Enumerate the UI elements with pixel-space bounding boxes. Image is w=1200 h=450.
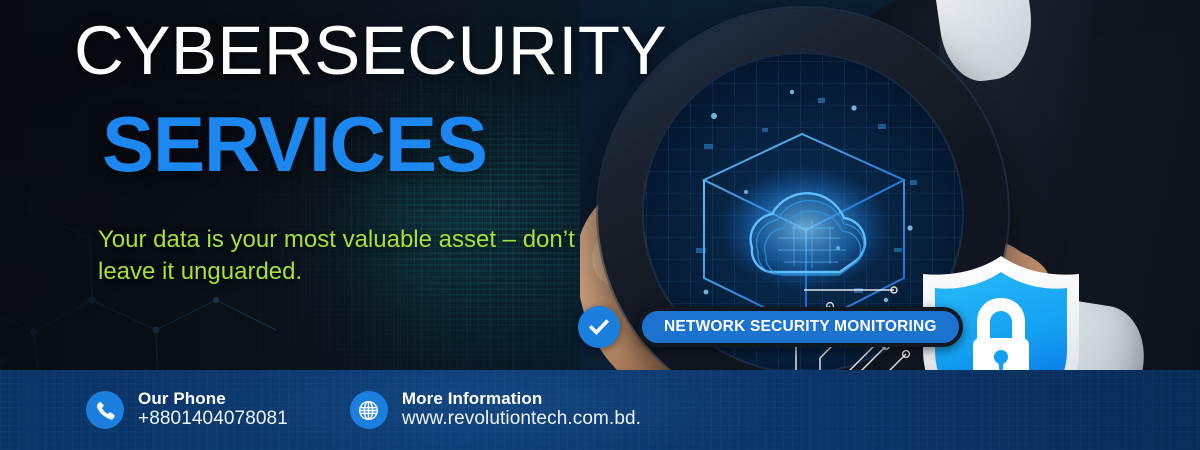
- contact-phone[interactable]: Our Phone +8801404078081: [86, 389, 288, 431]
- contact-bar: Our Phone +8801404078081 More Inform: [0, 370, 1200, 450]
- contact-phone-text: Our Phone +8801404078081: [138, 389, 288, 431]
- contact-website-text: More Information www.revolutiontech.com.…: [402, 389, 641, 431]
- feature-pill[interactable]: NETWORK SECURITY MONITORING: [638, 307, 963, 347]
- page-title: CYBERSECURITY: [74, 17, 667, 85]
- feature-item[interactable]: NETWORK SECURITY MONITORING: [578, 306, 963, 348]
- contact-label: More Information: [402, 389, 641, 409]
- page-subtitle: SERVICES: [102, 105, 487, 183]
- contact-items: Our Phone +8801404078081 More Inform: [0, 370, 1200, 450]
- contact-website[interactable]: More Information www.revolutiontech.com.…: [350, 389, 641, 431]
- contact-value: www.revolutiontech.com.bd.: [402, 408, 641, 431]
- contact-label: Our Phone: [138, 389, 288, 409]
- contact-value: +8801404078081: [138, 408, 288, 431]
- cybersecurity-services-banner: CYBERSECURITY SERVICES Your data is your…: [0, 0, 1200, 450]
- check-icon: [578, 306, 620, 348]
- feature-label: NETWORK SECURITY MONITORING: [664, 318, 937, 336]
- phone-icon: [86, 391, 124, 429]
- tagline: Your data is your most valuable asset – …: [98, 224, 598, 289]
- globe-icon: [350, 391, 388, 429]
